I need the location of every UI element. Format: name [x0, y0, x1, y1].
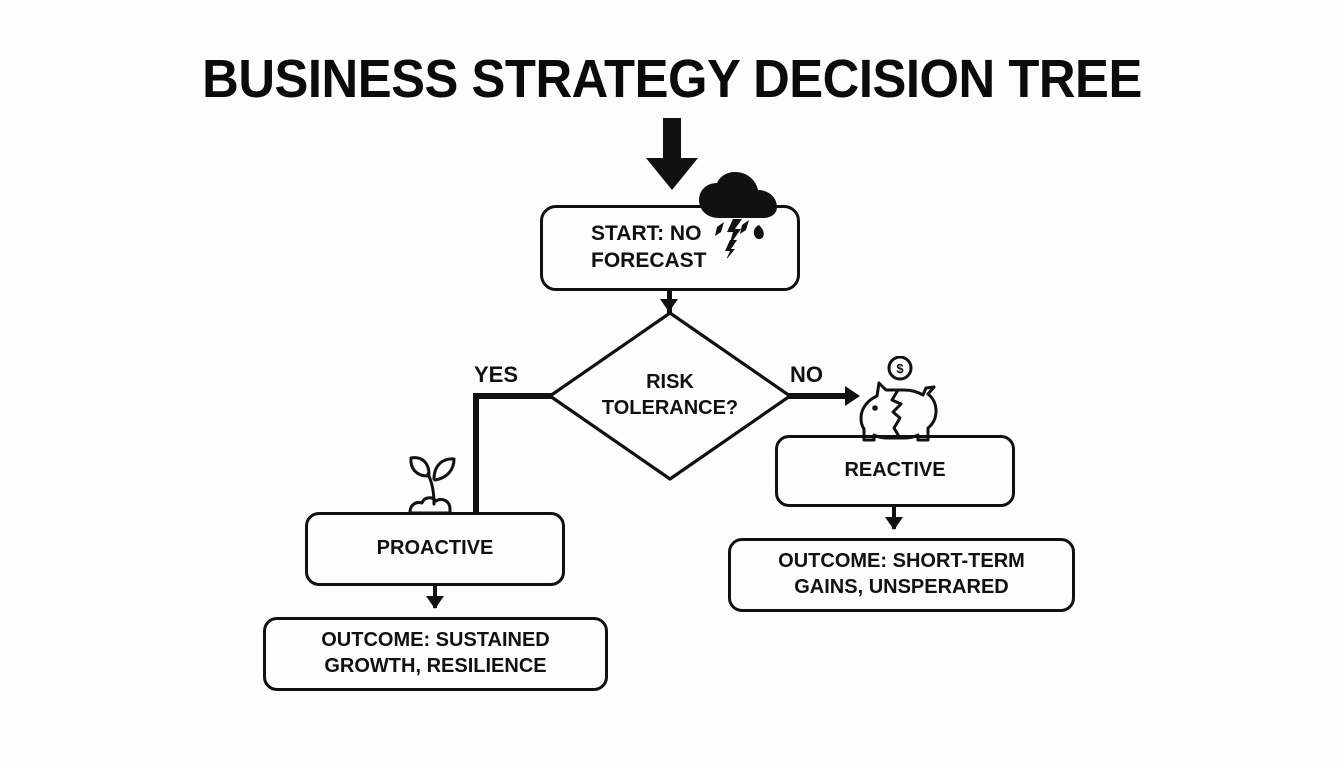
page-title: BUSINESS STRATEGY DECISION TREE [40, 48, 1303, 110]
diagram-canvas: BUSINESS STRATEGY DECISION TREE START: N… [0, 0, 1344, 768]
node-decision-label: RISK TOLERANCE? [545, 308, 795, 484]
connector-yes-vertical [473, 393, 479, 515]
node-outcome-reactive-label: OUTCOME: SHORT-TERM GAINS, UNSPERARED [731, 549, 1072, 600]
node-decision[interactable]: RISK TOLERANCE? [545, 308, 795, 484]
storm-cloud-icon [697, 172, 779, 258]
node-decision-line1: RISK [646, 371, 694, 393]
node-outcome-proactive-line1: OUTCOME: SUSTAINED [321, 629, 550, 651]
sprout-plant-icon [398, 452, 470, 518]
node-proactive[interactable]: PROACTIVE [305, 512, 565, 586]
node-start-line2: FORECAST [591, 249, 707, 272]
node-outcome-reactive-line1: OUTCOME: SHORT-TERM [778, 550, 1025, 572]
down-arrow-icon [644, 118, 700, 192]
svg-text:$: $ [896, 361, 904, 376]
node-outcome-proactive-label: OUTCOME: SUSTAINED GROWTH, RESILIENCE [266, 628, 605, 679]
node-start-line1: START: NO [591, 222, 701, 245]
connector-reactive-to-outcome-arrowhead [885, 517, 903, 530]
node-outcome-proactive[interactable]: OUTCOME: SUSTAINED GROWTH, RESILIENCE [263, 617, 608, 691]
branch-label-yes: YES [474, 362, 518, 388]
node-outcome-proactive-line2: GROWTH, RESILIENCE [324, 655, 546, 677]
node-outcome-reactive[interactable]: OUTCOME: SHORT-TERM GAINS, UNSPERARED [728, 538, 1075, 612]
node-reactive-label: REACTIVE [778, 458, 1012, 484]
node-decision-line2: TOLERANCE? [602, 397, 738, 419]
node-proactive-label: PROACTIVE [308, 536, 562, 562]
broken-piggy-bank-icon: $ [848, 356, 946, 448]
connector-proactive-to-outcome-arrowhead [426, 596, 444, 609]
branch-label-no: NO [790, 362, 823, 388]
node-outcome-reactive-line2: GAINS, UNSPERARED [794, 576, 1008, 598]
